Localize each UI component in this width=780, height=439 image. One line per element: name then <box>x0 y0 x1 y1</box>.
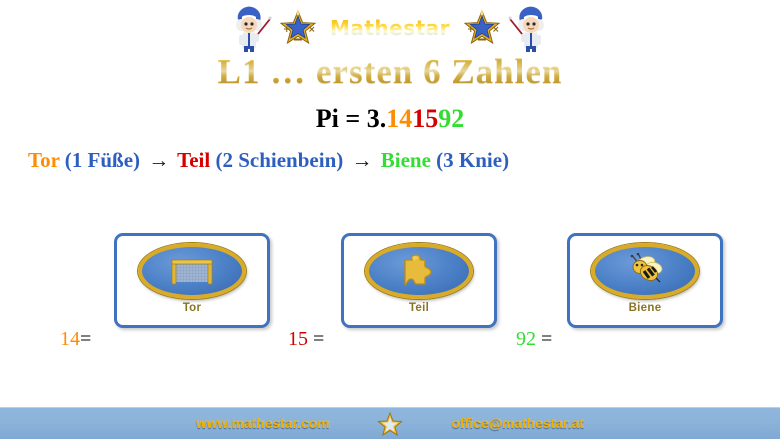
svg-text:×: × <box>308 25 316 35</box>
page-title: L1 … ersten 6 Zahlen <box>0 52 780 92</box>
answer-equals-3: = <box>541 328 552 350</box>
picture-card-biene[interactable]: Biene <box>567 233 723 328</box>
answer-slot-2[interactable]: 15 = <box>288 328 324 351</box>
picture-card-teil[interactable]: Teil <box>341 233 497 328</box>
gold-star-icon <box>377 411 403 437</box>
pi-value-line: Pi = 3.141592 <box>0 104 780 134</box>
footer-email-link[interactable]: office@mathestar.at <box>451 416 584 431</box>
mnemonic-word-3: Biene <box>381 148 431 172</box>
answer-number-1: 14 <box>60 328 80 350</box>
card-badge-biene <box>591 243 699 299</box>
mnemonic-arrow-1: → <box>145 148 172 172</box>
answer-number-2: 15 <box>288 328 308 350</box>
mnemonic-hint-3: (3 Knie) <box>436 148 509 172</box>
mnemonic-hint-1: (1 Füße) <box>65 148 140 172</box>
puzzle-piece-icon <box>400 252 438 290</box>
card-badge-teil <box>365 243 473 299</box>
svg-text:×: × <box>492 25 500 35</box>
card-label-teil: Teil <box>409 302 429 314</box>
answer-equals-2: = <box>313 328 324 350</box>
brand-wordmark: Mathestar <box>324 16 456 40</box>
bee-icon <box>625 253 665 289</box>
svg-text:+: + <box>283 25 291 35</box>
pi-digits-group-3: 92 <box>438 104 464 133</box>
pi-prefix: Pi = 3. <box>316 104 386 133</box>
wizard-mascot-right-icon <box>508 3 554 53</box>
mnemonic-chain: Tor (1 Füße) → Teil (2 Schienbein) → Bie… <box>28 148 509 173</box>
mathestar-star-logo-right-icon: + × <box>462 8 502 48</box>
soccer-goal-icon <box>169 256 215 286</box>
pi-digits-group-2: 15 <box>412 104 438 133</box>
mathestar-star-logo-left-icon: + × <box>278 8 318 48</box>
brand-header: + × Mathestar + × <box>0 0 780 55</box>
answer-slot-1[interactable]: 14= <box>60 328 91 351</box>
answer-number-3: 92 <box>516 328 536 350</box>
card-label-biene: Biene <box>629 302 662 314</box>
picture-card-tor[interactable]: Tor <box>114 233 270 328</box>
mnemonic-hint-2: (2 Schienbein) <box>215 148 343 172</box>
answer-slot-3[interactable]: 92 = <box>516 328 552 351</box>
card-label-tor: Tor <box>183 302 202 314</box>
mnemonic-arrow-2: → <box>349 148 376 172</box>
svg-text:+: + <box>467 25 475 35</box>
pi-digits-group-1: 14 <box>386 104 412 133</box>
mnemonic-word-1: Tor <box>28 148 60 172</box>
wizard-mascot-left-icon <box>226 3 272 53</box>
footer-bar: www.mathestar.com office@mathestar.at <box>0 407 780 439</box>
answer-equals-1: = <box>80 328 91 350</box>
footer-website-link[interactable]: www.mathestar.com <box>196 416 329 431</box>
mnemonic-word-2: Teil <box>177 148 210 172</box>
card-badge-tor <box>138 243 246 299</box>
